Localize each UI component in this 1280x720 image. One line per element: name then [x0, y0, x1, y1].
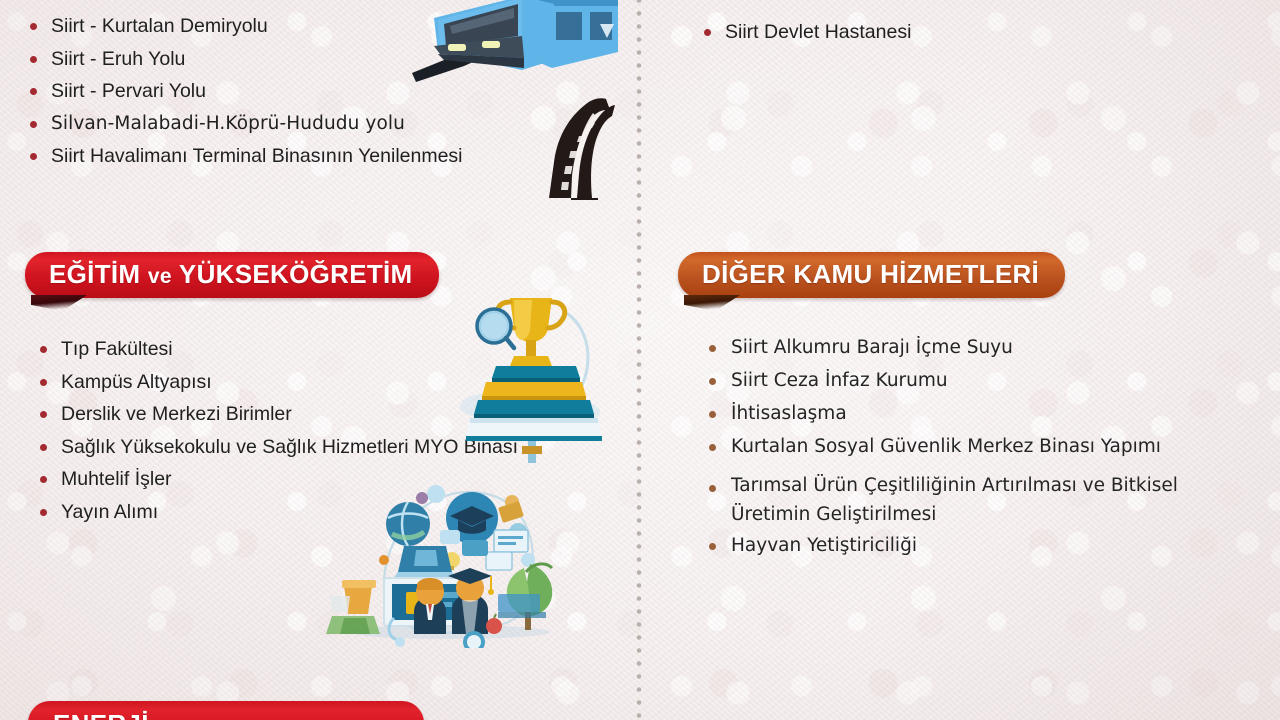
list-item: Siirt Devlet Hastanesi: [702, 16, 911, 49]
list-item-label: Siirt Havalimanı Terminal Binasının Yeni…: [51, 145, 463, 167]
left-column: Siirt - Kurtalan Demiryolu Siirt - Eruh …: [0, 0, 636, 720]
banner-label-part2: ve: [148, 265, 172, 288]
list-item: Tıp Fakültesi: [38, 333, 518, 366]
list-item: Kampüs Altyapısı: [38, 366, 518, 399]
list-item-label: Kurtalan Sosyal Güvenlik Merkez Binası Y…: [731, 436, 1161, 457]
vertical-dotted-divider: [636, 0, 642, 720]
train-illustration: [404, 0, 618, 94]
list-item-label: Siirt - Pervari Yolu: [51, 80, 206, 102]
list-item: Kurtalan Sosyal Güvenlik Merkez Binası Y…: [707, 430, 1201, 463]
list-item: Sağlık Yüksekokulu ve Sağlık Hizmetleri …: [38, 431, 518, 464]
education-cluster-illustration: [322, 468, 582, 648]
public-services-list: Siirt Alkumru Barajı İçme Suyu Siirt Cez…: [707, 331, 1201, 562]
list-item: Siirt Havalimanı Terminal Binasının Yeni…: [28, 140, 463, 173]
list-item-label: Siirt - Kurtalan Demiryolu: [51, 15, 268, 37]
right-column: Siirt Devlet Hastanesi: [642, 0, 1280, 720]
health-list: Siirt Devlet Hastanesi: [702, 16, 911, 49]
banner-pill: DİĞER KAMU HİZMETLERİ: [678, 252, 1065, 298]
list-item: Siirt - Kurtalan Demiryolu: [28, 10, 463, 43]
list-item: Tarımsal Ürün Çeşitliliğinin Artırılması…: [707, 471, 1201, 529]
list-item: Siirt - Pervari Yolu: [28, 75, 463, 108]
road-illustration: [524, 96, 624, 200]
list-item-label: Yayın Alımı: [61, 501, 158, 523]
public-services-section-banner: DİĞER KAMU HİZMETLERİ: [678, 252, 1065, 298]
banner-label: DİĞER KAMU HİZMETLERİ: [702, 259, 1039, 289]
list-item: Siirt Ceza İnfaz Kurumu: [707, 364, 1201, 397]
energy-section-banner: ENERJİ: [28, 701, 424, 720]
trophy-books-illustration: [452, 286, 612, 466]
list-item-label: Tarımsal Ürün Çeşitliliğinin Artırılması…: [731, 475, 1178, 525]
list-item-label: İhtisaslaşma: [731, 403, 847, 424]
list-item-label: Siirt Devlet Hastanesi: [725, 21, 911, 43]
list-item: Silvan-Malabadi-H.Köprü-Hududu yolu: [28, 108, 463, 141]
list-item: Hayvan Yetiştiriciliği: [707, 529, 1201, 562]
list-item: İhtisaslaşma: [707, 397, 1201, 430]
infographic-page: Siirt - Kurtalan Demiryolu Siirt - Eruh …: [0, 0, 1280, 720]
list-item: Siirt - Eruh Yolu: [28, 43, 463, 76]
banner-pill: EĞİTİM ve YÜKSEKÖĞRETİM: [25, 252, 439, 298]
list-item-label: Siirt Ceza İnfaz Kurumu: [731, 370, 948, 391]
list-item-label: Muhtelif İşler: [61, 468, 172, 490]
banner-label-part1: EĞİTİM: [49, 259, 140, 289]
list-item-label: Hayvan Yetiştiriciliği: [731, 535, 917, 556]
list-item-label: Sağlık Yüksekokulu ve Sağlık Hizmetleri …: [61, 436, 518, 458]
list-item-label: Silvan-Malabadi-H.Köprü-Hududu yolu: [51, 113, 405, 134]
education-section-banner: EĞİTİM ve YÜKSEKÖĞRETİM: [25, 252, 439, 298]
list-item-label: Tıp Fakültesi: [61, 338, 173, 360]
list-item-label: Derslik ve Merkezi Birimler: [61, 403, 292, 425]
banner-label: EĞİTİM ve YÜKSEKÖĞRETİM: [49, 259, 413, 289]
list-item-label: Kampüs Altyapısı: [61, 371, 212, 393]
list-item-label: Siirt Alkumru Barajı İçme Suyu: [731, 337, 1013, 358]
list-item: Siirt Alkumru Barajı İçme Suyu: [707, 331, 1201, 364]
ribbon-tail-icon: [684, 295, 740, 311]
banner-label-part3: YÜKSEKÖĞRETİM: [179, 259, 413, 289]
transport-list: Siirt - Kurtalan Demiryolu Siirt - Eruh …: [28, 10, 463, 173]
banner-label: ENERJİ: [53, 709, 149, 720]
ribbon-tail-icon: [31, 295, 87, 311]
list-item: Derslik ve Merkezi Birimler: [38, 398, 518, 431]
list-item-label: Siirt - Eruh Yolu: [51, 48, 185, 70]
